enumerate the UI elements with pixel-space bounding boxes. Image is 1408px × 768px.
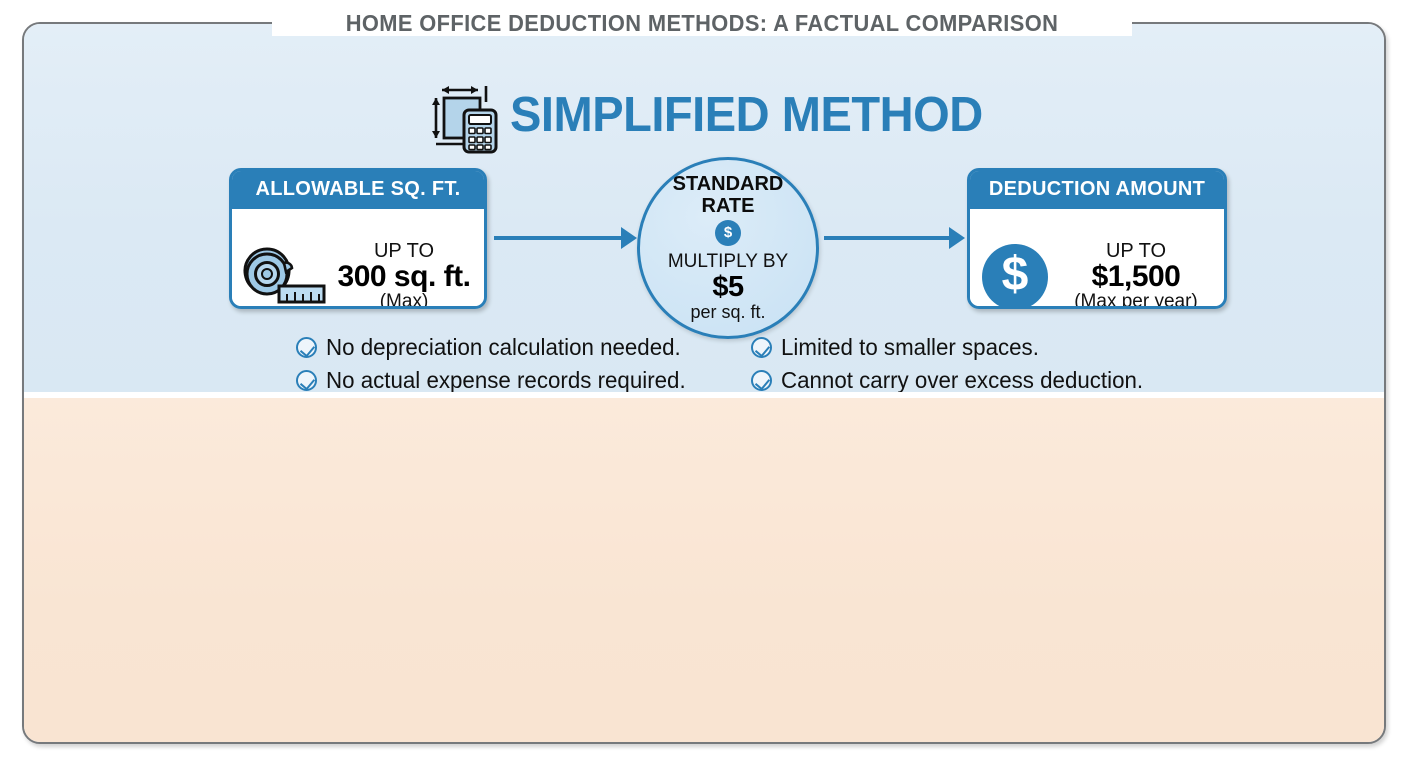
rate-line4: $5: [712, 272, 743, 303]
bullet-text: Cannot carry over excess deduction.: [781, 367, 1143, 394]
check-circle-icon: [296, 337, 317, 358]
simplified-deduction-box: DEDUCTION AMOUNT $ UP TO $1,500 (Max per…: [967, 168, 1227, 309]
check-circle-icon: [751, 370, 772, 391]
room-dimensions-calculator-icon: [424, 76, 502, 154]
dollar-circle-icon: $: [982, 244, 1048, 310]
dollar-coin-icon: $: [715, 220, 741, 246]
bullet-text: No actual expense records required.: [326, 367, 686, 394]
simplified-deduction-header: DEDUCTION AMOUNT: [970, 171, 1224, 209]
bullet-text: No depreciation calculation needed.: [326, 334, 681, 361]
simplified-method-section: SIMPLIFIED METHOD ALLOWABLE SQ. FT.: [24, 24, 1384, 396]
deduction-line2: $1,500: [1058, 262, 1214, 293]
sqft-line3: (Max): [334, 292, 474, 309]
deduction-line1: UP TO: [1058, 241, 1214, 261]
page-title: HOME OFFICE DEDUCTION METHODS: A FACTUAL…: [294, 9, 1111, 37]
deduction-line3: (Max per year): [1058, 292, 1214, 309]
rate-line1: STANDARD: [673, 174, 784, 195]
allowable-sqft-header: ALLOWABLE SQ. FT.: [232, 171, 484, 209]
sqft-line1: UP TO: [334, 241, 474, 261]
check-circle-icon: [751, 337, 772, 358]
infographic-page: SIMPLIFIED METHOD ALLOWABLE SQ. FT.: [0, 0, 1408, 768]
rate-line3: MULTIPLY BY: [668, 252, 788, 272]
arrow-rate-to-deduction: [824, 236, 950, 240]
rate-line5: per sq. ft.: [690, 303, 765, 322]
regular-method-section: REGULAR (ACTUAL EXPENSES) METHOD REEDPT: [24, 396, 1384, 744]
list-item: Cannot carry over excess deduction.: [751, 367, 1154, 394]
list-item: No actual expense records required.: [296, 367, 697, 394]
check-circle-icon: [296, 370, 317, 391]
bullet-text: Limited to smaller spaces.: [781, 334, 1039, 361]
simplified-bullets: No depreciation calculation needed. Limi…: [296, 334, 1154, 394]
arrow-sqft-to-rate: [494, 236, 622, 240]
simplified-heading-text: SIMPLIFIED METHOD: [510, 87, 983, 143]
list-item: No depreciation calculation needed.: [296, 334, 697, 361]
rate-line2: RATE: [702, 196, 755, 217]
sqft-line2: 300 sq. ft.: [334, 262, 474, 293]
allowable-sqft-box: ALLOWABLE SQ. FT.: [229, 168, 487, 309]
standard-rate-circle: STANDARD RATE $ MULTIPLY BY $5 per sq. f…: [637, 157, 819, 339]
list-item: Limited to smaller spaces.: [751, 334, 1154, 361]
section-divider: [24, 392, 1384, 398]
infographic-card: SIMPLIFIED METHOD ALLOWABLE SQ. FT.: [22, 22, 1386, 744]
tape-measure-icon: [238, 246, 330, 308]
simplified-heading: SIMPLIFIED METHOD: [424, 76, 1002, 154]
